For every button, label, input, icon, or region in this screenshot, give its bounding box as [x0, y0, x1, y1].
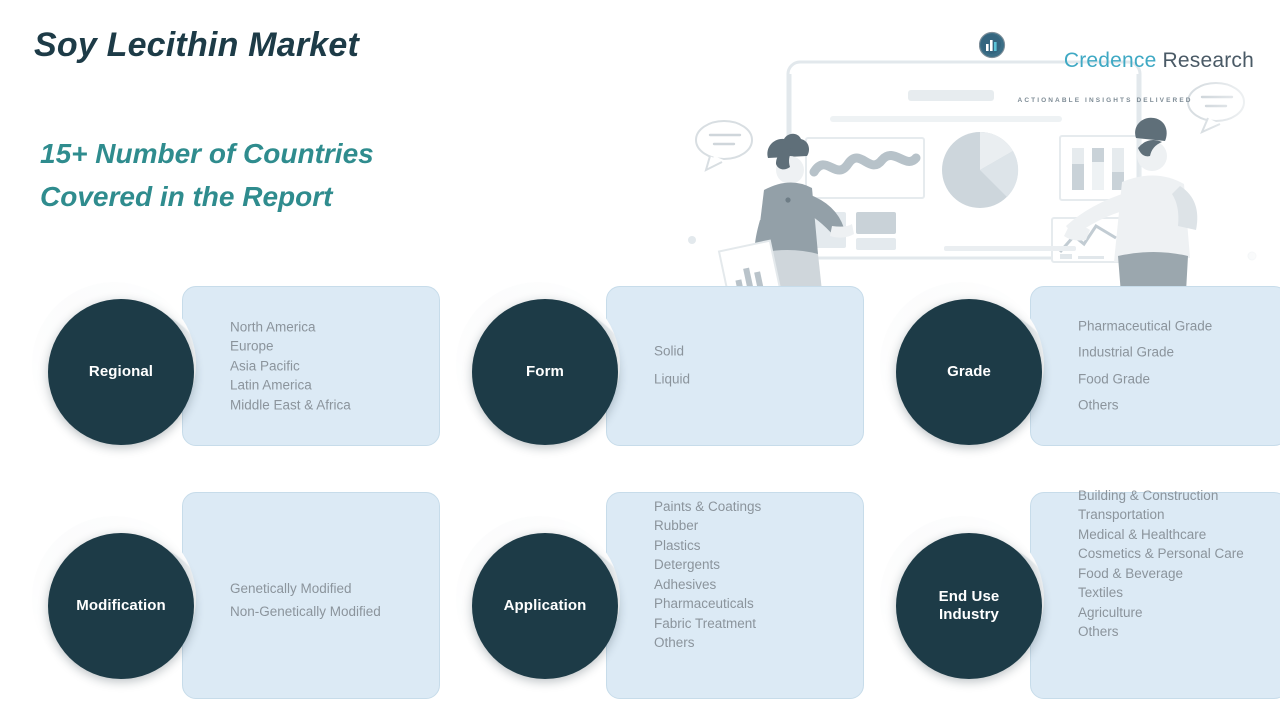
segment-label: Application — [504, 597, 587, 615]
segment-label: Modification — [76, 597, 166, 615]
segment-circle[interactable]: End Use Industry — [896, 533, 1042, 679]
list-item: Others — [1078, 622, 1280, 641]
list-item: North America — [230, 317, 442, 336]
list-item: Genetically Modified — [230, 576, 442, 599]
logo-name-part1: Credence — [1064, 49, 1157, 72]
list-item: Food Grade — [1078, 366, 1280, 392]
list-item: Liquid — [654, 366, 866, 394]
list-item: Plastics — [654, 536, 866, 555]
segment-end-use-industry[interactable]: End Use Industry Building & Construction… — [880, 492, 1280, 707]
list-item: Medical & Healthcare — [1078, 525, 1280, 544]
segment-regional[interactable]: Regional North America Europe Asia Pacif… — [32, 282, 432, 450]
segment-label: Form — [526, 363, 564, 381]
list-item: Non-Genetically Modified — [230, 600, 442, 623]
infographic-canvas: Soy Lecithin Market 15+ Number of Countr… — [0, 0, 1280, 720]
list-item: Agriculture — [1078, 603, 1280, 622]
logo-name-part2: Research — [1156, 49, 1254, 72]
list-item: Latin America — [230, 376, 442, 395]
segment-label: End Use Industry — [939, 588, 1000, 625]
segment-item-list: Solid Liquid — [654, 338, 866, 395]
segment-item-list: Genetically Modified Non-Genetically Mod… — [230, 576, 442, 622]
list-item: Europe — [230, 337, 442, 356]
segment-circle[interactable]: Grade — [896, 299, 1042, 445]
bar-chart-circle-icon — [979, 30, 1009, 60]
segment-application[interactable]: Application Paints & Coatings Rubber Pla… — [456, 492, 856, 707]
segment-item-list: North America Europe Asia Pacific Latin … — [230, 317, 442, 414]
segment-item-list: Pharmaceutical Grade Industrial Grade Fo… — [1078, 313, 1280, 418]
list-item: Paints & Coatings — [654, 497, 866, 516]
segment-item-list: Building & Construction Transportation M… — [1078, 486, 1280, 642]
list-item: Fabric Treatment — [654, 614, 866, 633]
list-item: Detergents — [654, 555, 866, 574]
list-item: Adhesives — [654, 575, 866, 594]
list-item: Food & Beverage — [1078, 564, 1280, 583]
list-item: Transportation — [1078, 505, 1280, 524]
segment-circle[interactable]: Form — [472, 299, 618, 445]
list-item: Pharmaceuticals — [654, 594, 866, 613]
list-item: Others — [1078, 392, 1280, 418]
list-item: Middle East & Africa — [230, 395, 442, 414]
list-item: Industrial Grade — [1078, 340, 1280, 366]
segment-item-list: Paints & Coatings Rubber Plastics Deterg… — [654, 497, 866, 653]
segment-circle[interactable]: Modification — [48, 533, 194, 679]
list-item: Building & Construction — [1078, 486, 1280, 505]
segment-circle[interactable]: Application — [472, 533, 618, 679]
list-item: Solid — [654, 338, 866, 366]
list-item: Cosmetics & Personal Care — [1078, 544, 1280, 563]
subtitle-countries-covered: 15+ Number of Countries Covered in the R… — [40, 133, 374, 219]
segment-circle[interactable]: Regional — [48, 299, 194, 445]
list-item: Textiles — [1078, 583, 1280, 602]
logo-wordmark: Credence Research Actionable Insights De… — [1016, 28, 1254, 104]
segment-label: Regional — [89, 363, 153, 381]
segment-modification[interactable]: Modification Genetically Modified Non-Ge… — [32, 492, 432, 707]
list-item: Rubber — [654, 516, 866, 535]
list-item: Pharmaceutical Grade — [1078, 313, 1280, 339]
segment-form[interactable]: Form Solid Liquid — [456, 282, 856, 450]
segment-grade[interactable]: Grade Pharmaceutical Grade Industrial Gr… — [880, 282, 1280, 450]
logo-tagline: Actionable Insights Delivered — [1018, 97, 1254, 104]
list-item: Asia Pacific — [230, 356, 442, 375]
credence-research-logo[interactable]: Credence Research Actionable Insights De… — [979, 28, 1254, 104]
page-title: Soy Lecithin Market — [34, 26, 359, 65]
segment-label: Grade — [947, 363, 991, 381]
list-item: Others — [654, 633, 866, 652]
